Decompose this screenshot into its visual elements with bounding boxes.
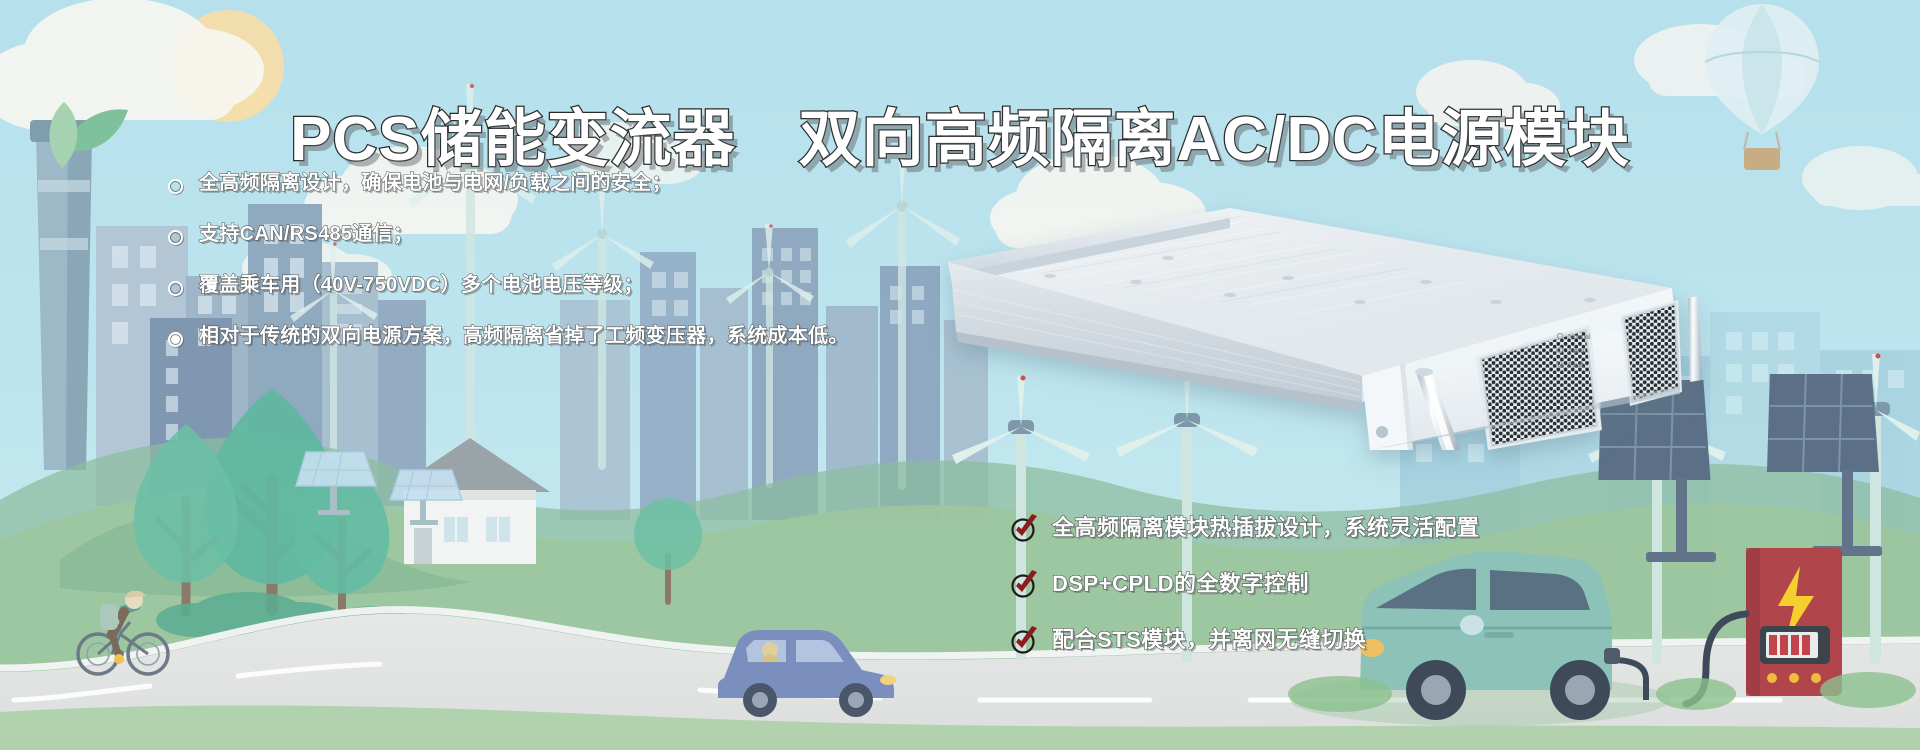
circle-bullet-icon: [168, 332, 183, 347]
feature-text: 相对于传统的双向电源方案，高频隔离省掉了工频变压器，系统成本低。: [199, 323, 849, 350]
circle-bullet-icon: [168, 179, 183, 194]
led-label-normal: Normal: [1568, 334, 1591, 341]
feature-list-left: 全高频隔离设计，确保电池与电网/负载之间的安全； 支持CAN/RS485通信； …: [168, 170, 868, 374]
list-item: DSP+CPLD的全数字控制: [1010, 569, 1770, 599]
product-image: Normal Alarm Fault: [930, 150, 1690, 450]
feature-text: DSP+CPLD的全数字控制: [1052, 570, 1309, 598]
feature-text: 覆盖乘车用（40V-750VDC）多个电池电压等级；: [199, 272, 644, 299]
list-item: 全高频隔离设计，确保电池与电网/负载之间的安全；: [168, 170, 868, 197]
circle-bullet-icon: [168, 230, 183, 245]
rack-module-illustration: Normal Alarm Fault: [930, 150, 1690, 450]
list-item: 配合STS模块，并离网无缝切换: [1010, 625, 1770, 655]
feature-text: 支持CAN/RS485通信；: [199, 221, 413, 248]
list-item: 支持CAN/RS485通信；: [168, 221, 868, 248]
check-circle-icon: [1010, 569, 1040, 599]
list-item: 覆盖乘车用（40V-750VDC）多个电池电压等级；: [168, 272, 868, 299]
led-label-fault: Fault: [1568, 362, 1584, 369]
circle-bullet-icon: [168, 281, 183, 296]
list-item: 全高频隔离模块热插拔设计，系统灵活配置: [1010, 513, 1770, 543]
banner-canvas: Normal Alarm Fault: [0, 0, 1920, 750]
feature-list-right: 全高频隔离模块热插拔设计，系统灵活配置 DSP+CPLD的全数字控制 配合STS…: [1010, 513, 1770, 681]
led-label-alarm: Alarm: [1568, 348, 1586, 355]
feature-text: 全高频隔离设计，确保电池与电网/负载之间的安全；: [199, 170, 672, 197]
list-item: 相对于传统的双向电源方案，高频隔离省掉了工频变压器，系统成本低。: [168, 323, 868, 350]
check-circle-icon: [1010, 513, 1040, 543]
check-circle-icon: [1010, 625, 1040, 655]
feature-text: 配合STS模块，并离网无缝切换: [1052, 626, 1366, 654]
feature-text: 全高频隔离模块热插拔设计，系统灵活配置: [1052, 514, 1480, 542]
